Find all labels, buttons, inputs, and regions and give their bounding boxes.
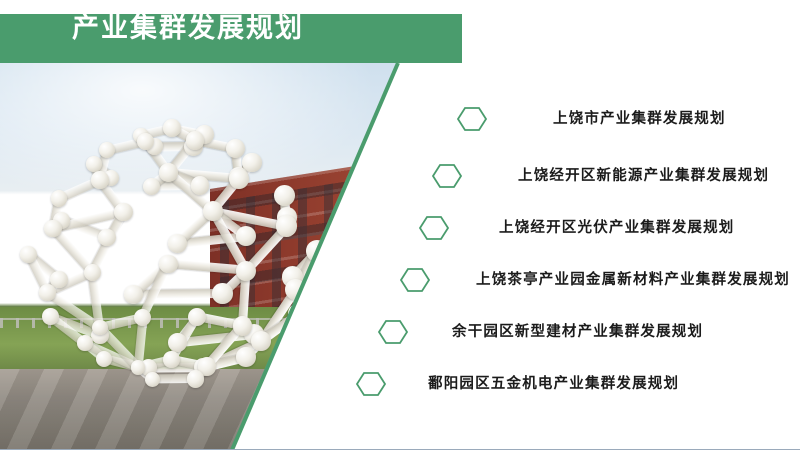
list-item-label: 鄱阳园区五金机电产业集群发展规划 — [428, 374, 679, 394]
list-item-label: 上饶经开区光伏产业集群发展规划 — [499, 218, 735, 238]
list-item-label: 余干园区新型建材产业集群发展规划 — [452, 322, 703, 342]
list-item[interactable]: 上饶经开区新能源产业集群发展规划 — [432, 161, 769, 191]
hexagon-icon — [419, 213, 449, 243]
slide-canvas: 产业集群发展规划 上饶市产业集群发展规划上饶经开区新能源产业集群发展规划上饶经开… — [0, 0, 800, 450]
list-item[interactable]: 上饶经开区光伏产业集群发展规划 — [419, 213, 735, 243]
list-item[interactable]: 上饶茶亭产业园金属新材料产业集群发展规划 — [400, 265, 790, 295]
list-item[interactable]: 余干园区新型建材产业集群发展规划 — [378, 317, 703, 347]
list-item[interactable]: 鄱阳园区五金机电产业集群发展规划 — [356, 369, 679, 399]
hexagon-icon — [457, 104, 487, 134]
list-item-label: 上饶经开区新能源产业集群发展规划 — [518, 166, 769, 186]
hexagon-icon — [400, 265, 430, 295]
hexagon-icon — [356, 369, 386, 399]
plan-list: 上饶市产业集群发展规划上饶经开区新能源产业集群发展规划上饶经开区光伏产业集群发展… — [0, 0, 800, 450]
list-item-label: 上饶茶亭产业园金属新材料产业集群发展规划 — [476, 270, 790, 290]
list-item[interactable]: 上饶市产业集群发展规划 — [457, 104, 726, 134]
hexagon-icon — [432, 161, 462, 191]
list-item-label: 上饶市产业集群发展规划 — [553, 109, 726, 129]
hexagon-icon — [378, 317, 408, 347]
